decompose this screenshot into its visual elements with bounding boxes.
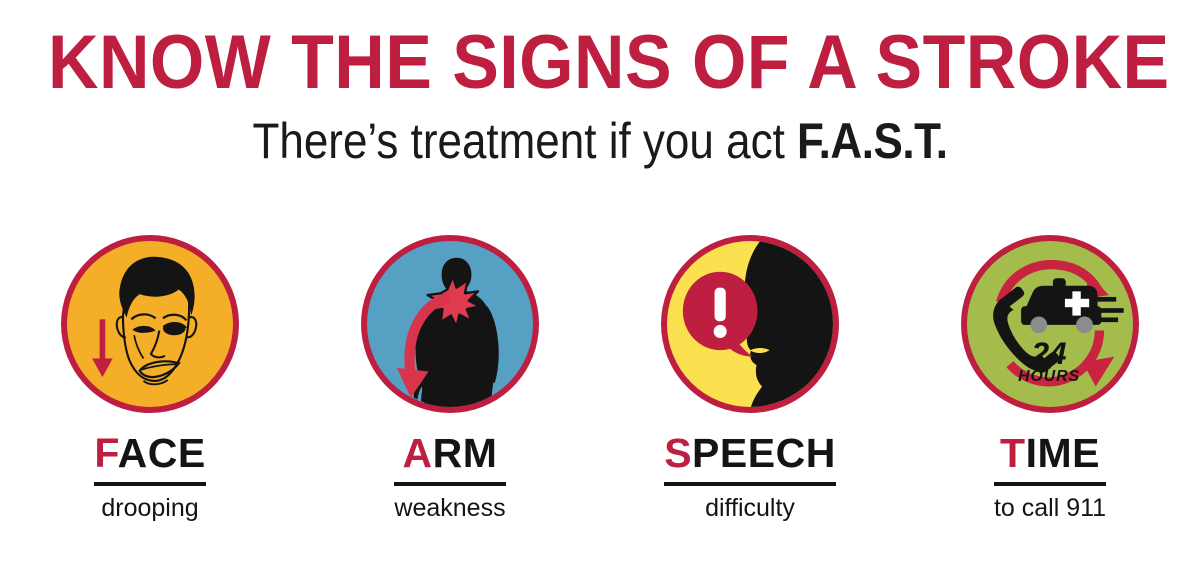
ambulance-wheel <box>1076 317 1093 334</box>
keyword-rest: ACE <box>118 430 206 476</box>
ambulance-wheel <box>1030 317 1047 334</box>
sign-column-arm: ARM weakness <box>300 235 600 565</box>
label-block-arm: ARM weakness <box>394 431 505 523</box>
subtext-time: to call 911 <box>994 493 1106 523</box>
arm-weakness-illustration <box>367 241 533 407</box>
time-call-911-icon: 24 HOURS <box>961 235 1139 413</box>
sign-column-speech: SPEECH difficulty <box>600 235 900 565</box>
subtext-face: drooping <box>94 493 205 523</box>
time-call-911-illustration: 24 HOURS <box>967 241 1133 407</box>
subtext-speech: difficulty <box>664 493 836 523</box>
keyword-time: TIME <box>994 431 1106 475</box>
keyword-arm: ARM <box>394 431 505 475</box>
keyword-face: FACE <box>94 431 205 475</box>
keyword-rest: RM <box>433 430 498 476</box>
speed-line <box>1098 317 1119 322</box>
keyword-lead-letter: T <box>1000 430 1026 476</box>
label-block-time: TIME to call 911 <box>994 431 1106 523</box>
label-divider <box>994 482 1106 486</box>
label-divider <box>94 482 205 486</box>
keyword-rest: IME <box>1026 430 1100 476</box>
speech-difficulty-icon <box>661 235 839 413</box>
label-divider <box>664 482 836 486</box>
fast-signs-row: FACE drooping <box>0 235 1200 565</box>
arm-weakness-icon <box>361 235 539 413</box>
down-arrow-icon <box>92 319 113 377</box>
subtext-arm: weakness <box>394 493 505 523</box>
speed-line <box>1098 297 1117 302</box>
keyword-lead-letter: S <box>664 430 692 476</box>
keyword-speech: SPEECH <box>664 431 836 475</box>
hours-number: 24 <box>1030 335 1067 371</box>
subtitle-prefix: There’s treatment if you act <box>252 113 797 169</box>
page-subtitle: There’s treatment if you act F.A.S.T. <box>72 112 1128 170</box>
keyword-lead-letter: A <box>403 430 433 476</box>
page-title: KNOW THE SIGNS OF A STROKE <box>48 22 1152 104</box>
speech-difficulty-illustration <box>667 241 833 407</box>
keyword-lead-letter: F <box>94 430 117 476</box>
hours-unit: HOURS <box>1018 368 1080 385</box>
label-block-face: FACE drooping <box>94 431 205 523</box>
face-drooping-illustration <box>67 241 233 407</box>
face-drooping-icon <box>61 235 239 413</box>
sign-column-time: 24 HOURS TIME to call 911 <box>900 235 1200 565</box>
stroke-awareness-poster: KNOW THE SIGNS OF A STROKE There’s treat… <box>0 0 1200 580</box>
label-divider <box>394 482 505 486</box>
ambulance-icon <box>1021 278 1124 333</box>
speed-line <box>1098 308 1124 313</box>
sign-column-face: FACE drooping <box>0 235 300 565</box>
speech-bubble-icon <box>683 272 758 357</box>
label-block-speech: SPEECH difficulty <box>664 431 836 523</box>
subtitle-fast-acronym: F.A.S.T. <box>797 113 948 169</box>
keyword-rest: PEECH <box>692 430 836 476</box>
